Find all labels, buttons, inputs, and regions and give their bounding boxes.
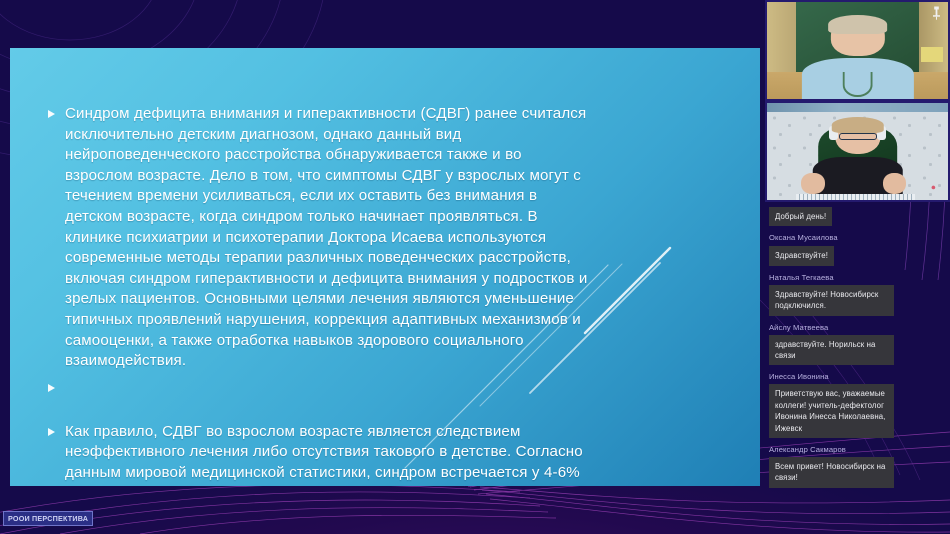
video-tile-speaker-1[interactable] [765,0,950,101]
chat-bubble: Всем привет! Новосибирск на связи! [769,457,894,488]
pin-icon[interactable] [931,6,942,20]
right-rail: ⏺ Добрый день! Оксана Мусаилова Здравств… [760,0,950,534]
record-icon: ⏺ [931,183,935,193]
slide-bullet-1: Синдром дефицита внимания и гиперактивно… [48,104,592,372]
person-hand-left [801,173,825,194]
lanyard [842,72,873,97]
chat-message: Александр Сакмаров Всем привет! Новосиби… [765,445,950,488]
video-tile-speaker-2[interactable]: ⏺ [765,101,950,202]
chat-bubble: Здравствуйте! Новосибирск подключился. [769,285,894,316]
triangle-bullet-icon [48,110,55,118]
person-hand-right [883,173,907,194]
chat-bubble: Добрый день! [769,207,832,226]
presentation-slide[interactable]: Синдром дефицита внимания и гиперактивно… [10,48,760,486]
chat-message: Оксана Мусаилова Здравствуйте! [765,233,950,265]
person-hair [831,117,883,133]
organization-badge: РООИ ПЕРСПЕКТИВА [3,511,93,526]
chat-author: Оксана Мусаилова [769,233,950,242]
chat-message: Инесса Ивонина Приветствую вас, уважаемы… [765,372,950,438]
chat-bubble: Приветствую вас, уважаемые коллеги! учит… [769,384,894,438]
glasses [839,133,877,140]
wall-poster [921,47,943,63]
chat-author: Инесса Ивонина [769,372,950,381]
chat-author: Наталья Тегкаева [769,273,950,282]
chat-bubble: здравствуйте. Норильск на связи [769,335,894,366]
slide-bullet-3: Как правило, СДВГ во взрослом возрасте я… [48,422,592,486]
ceiling-strip [767,103,948,112]
slide-bullet-3-text: Как правило, СДВГ во взрослом возрасте я… [65,422,592,486]
chat-message: Добрый день! [765,206,950,226]
video-feed-1 [767,2,948,99]
chat-author: Александр Сакмаров [769,445,950,454]
chat-panel[interactable]: Добрый день! Оксана Мусаилова Здравствуй… [765,206,950,488]
triangle-bullet-icon [48,428,55,436]
chat-message: Айслу Матвеева здравствуйте. Норильск на… [765,323,950,366]
keyboard [796,194,915,200]
chat-bubble: Здравствуйте! [769,246,834,265]
video-feed-2: ⏺ [767,103,948,200]
slide-bullet-2-empty [48,378,592,422]
triangle-bullet-icon [48,384,55,392]
wall-left [767,2,798,72]
chat-author: Айслу Матвеева [769,323,950,332]
chat-message: Наталья Тегкаева Здравствуйте! Новосибир… [765,273,950,316]
slide-bullet-1-text: Синдром дефицита внимания и гиперактивно… [65,104,592,372]
person-hair [828,15,888,34]
slide-text-content: Синдром дефицита внимания и гиперактивно… [48,104,592,486]
